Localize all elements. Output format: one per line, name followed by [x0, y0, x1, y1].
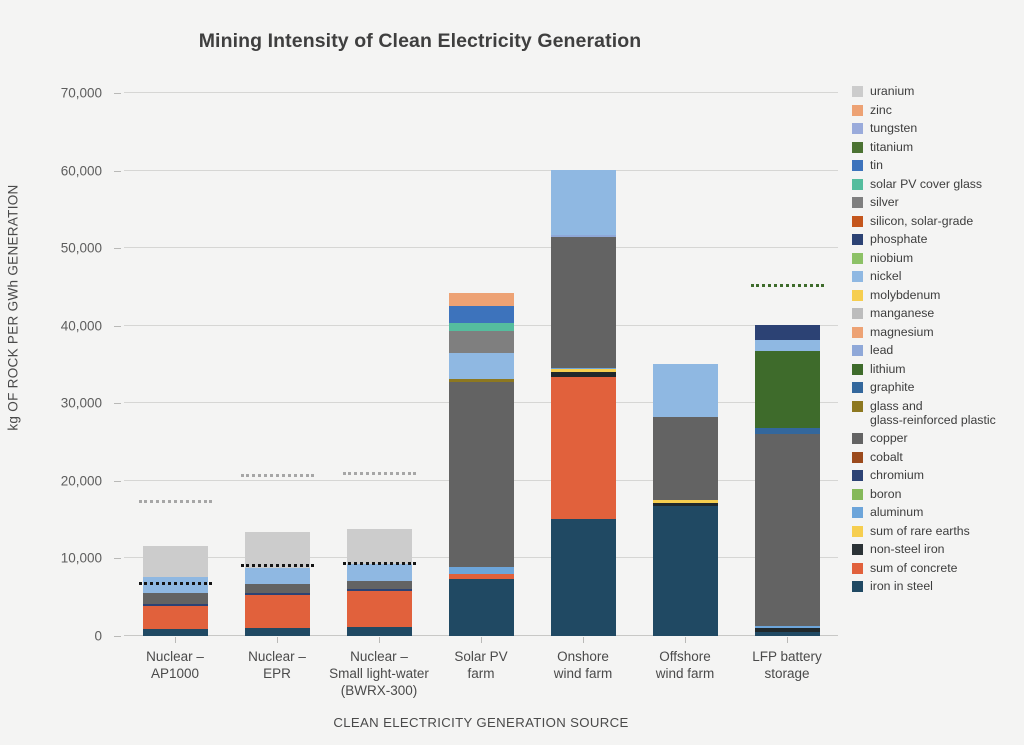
x-axis-tick-mark: [685, 637, 686, 643]
legend-item-label: glass and glass-reinforced plastic: [870, 399, 996, 428]
bar-segment[interactable]: [653, 506, 718, 636]
legend-swatch-icon: [852, 253, 863, 264]
y-axis-tick-mark: [114, 248, 121, 249]
legend-item[interactable]: aluminum: [852, 505, 1024, 519]
legend-item[interactable]: uranium: [852, 84, 1024, 98]
legend-item-label: sum of rare earths: [870, 524, 970, 538]
legend-item-label: sum of concrete: [870, 561, 957, 575]
legend-item-label: nickel: [870, 269, 901, 283]
legend-item[interactable]: non-steel iron: [852, 542, 1024, 556]
reference-line: [241, 474, 314, 477]
bar-segment[interactable]: [143, 593, 208, 605]
bar-segment[interactable]: [449, 579, 514, 636]
legend-swatch-icon: [852, 345, 863, 356]
reference-line: [139, 582, 212, 585]
reference-line: [343, 562, 416, 565]
legend-item[interactable]: silver: [852, 195, 1024, 209]
legend-item[interactable]: zinc: [852, 103, 1024, 117]
legend-item[interactable]: sum of concrete: [852, 561, 1024, 575]
legend-item[interactable]: phosphate: [852, 232, 1024, 246]
legend-swatch-icon: [852, 271, 863, 282]
y-axis-tick-label: 40,000: [61, 318, 102, 333]
x-axis-tick-label: Nuclear – EPR: [226, 648, 328, 682]
bar-segment[interactable]: [755, 325, 820, 340]
gridline: [124, 247, 838, 248]
x-axis-title: CLEAN ELECTRICITY GENERATION SOURCE: [124, 715, 838, 730]
bar-segment[interactable]: [245, 568, 310, 585]
legend-item[interactable]: molybdenum: [852, 288, 1024, 302]
bar-stack[interactable]: [449, 293, 514, 636]
y-axis-tick-label: 50,000: [61, 241, 102, 256]
legend-item-label: manganese: [870, 306, 934, 320]
bar-segment[interactable]: [245, 584, 310, 593]
bar-segment[interactable]: [347, 627, 412, 636]
bar-segment[interactable]: [245, 628, 310, 636]
legend-item-label: graphite: [870, 380, 914, 394]
legend-item[interactable]: solar PV cover glass: [852, 177, 1024, 191]
y-axis-tick-mark: [114, 481, 121, 482]
legend-item-label: solar PV cover glass: [870, 177, 982, 191]
legend-item[interactable]: tin: [852, 158, 1024, 172]
x-axis-tick-mark: [379, 637, 380, 643]
bar-segment[interactable]: [449, 323, 514, 332]
bar-segment[interactable]: [653, 417, 718, 500]
legend-item-label: non-steel iron: [870, 542, 945, 556]
bar-segment[interactable]: [551, 237, 616, 368]
bar-segment[interactable]: [347, 581, 412, 589]
bar-segment[interactable]: [755, 351, 820, 428]
x-axis-tick-mark: [277, 637, 278, 643]
x-axis-tick-label: Onshore wind farm: [532, 648, 634, 682]
reference-line: [241, 564, 314, 567]
x-axis-tick-mark: [175, 637, 176, 643]
legend-swatch-icon: [852, 470, 863, 481]
y-axis-tick-label: 30,000: [61, 396, 102, 411]
y-axis-tick-label: 60,000: [61, 163, 102, 178]
legend-swatch-icon: [852, 382, 863, 393]
legend-item-label: iron in steel: [870, 579, 933, 593]
y-axis-tick-mark: [114, 403, 121, 404]
legend-item-label: aluminum: [870, 505, 923, 519]
legend-item[interactable]: graphite: [852, 380, 1024, 394]
bar-segment[interactable]: [347, 591, 412, 627]
bar-stack[interactable]: [347, 529, 412, 636]
bar-segment[interactable]: [653, 364, 718, 417]
y-axis-tick-label: 70,000: [61, 86, 102, 101]
bar-segment[interactable]: [449, 293, 514, 306]
legend-swatch-icon: [852, 526, 863, 537]
bar-segment[interactable]: [755, 434, 820, 626]
gridline: [124, 170, 838, 171]
bar-segment[interactable]: [755, 340, 820, 351]
legend-item-label: boron: [870, 487, 901, 501]
y-axis-tick-label: 0: [94, 629, 102, 644]
bar-segment[interactable]: [551, 170, 616, 235]
legend-swatch-icon: [852, 123, 863, 134]
legend-item-label: phosphate: [870, 232, 927, 246]
plot-area: [124, 93, 838, 636]
bar-segment[interactable]: [347, 564, 412, 581]
legend-swatch-icon: [852, 327, 863, 338]
reference-line: [139, 500, 212, 503]
x-axis-tick-mark: [481, 637, 482, 643]
legend-item[interactable]: boron: [852, 487, 1024, 501]
bar-segment[interactable]: [449, 353, 514, 379]
legend-swatch-icon: [852, 142, 863, 153]
legend-swatch-icon: [852, 216, 863, 227]
bar-stack[interactable]: [755, 325, 820, 636]
bar-segment[interactable]: [755, 632, 820, 636]
y-axis-tick-mark: [114, 558, 121, 559]
bar-segment[interactable]: [143, 577, 208, 593]
legend-item-label: molybdenum: [870, 288, 940, 302]
legend-swatch-icon: [852, 179, 863, 190]
legend-item[interactable]: manganese: [852, 306, 1024, 320]
bar-segment[interactable]: [551, 519, 616, 636]
bar-stack[interactable]: [653, 364, 718, 636]
bar-segment[interactable]: [449, 567, 514, 574]
legend-swatch-icon: [852, 197, 863, 208]
bar-stack[interactable]: [551, 170, 616, 636]
legend-item[interactable]: copper: [852, 431, 1024, 445]
legend-swatch-icon: [852, 433, 863, 444]
legend-item[interactable]: silicon, solar-grade: [852, 214, 1024, 228]
y-axis-tick-mark: [114, 93, 121, 94]
y-axis-tick-mark: [114, 326, 121, 327]
legend-item-label: lead: [870, 343, 893, 357]
legend-item-label: silver: [870, 195, 899, 209]
bar-segment[interactable]: [143, 546, 208, 577]
legend-item-label: niobium: [870, 251, 913, 265]
legend-item-label: tin: [870, 158, 883, 172]
legend-item[interactable]: titanium: [852, 140, 1024, 154]
legend-swatch-icon: [852, 308, 863, 319]
legend-item-label: titanium: [870, 140, 913, 154]
y-axis-tick-label: 10,000: [61, 551, 102, 566]
bar-segment[interactable]: [347, 529, 412, 564]
legend-item-label: cobalt: [870, 450, 903, 464]
legend-swatch-icon: [852, 489, 863, 500]
legend-swatch-icon: [852, 563, 863, 574]
y-axis-tick-mark: [114, 636, 121, 637]
legend-item[interactable]: chromium: [852, 468, 1024, 482]
legend-swatch-icon: [852, 544, 863, 555]
gridline: [124, 92, 838, 93]
legend-swatch-icon: [852, 160, 863, 171]
legend-item-label: zinc: [870, 103, 892, 117]
legend-item[interactable]: nickel: [852, 269, 1024, 283]
legend-swatch-icon: [852, 105, 863, 116]
legend-item-label: copper: [870, 431, 908, 445]
bar-stack[interactable]: [143, 546, 208, 636]
legend: uraniumzinctungstentitaniumtinsolar PV c…: [852, 84, 1024, 598]
y-axis-title: kg OF ROCK PER GWh GENERATION: [6, 88, 21, 528]
reference-line: [343, 472, 416, 475]
chart-root: Mining Intensity of Clean Electricity Ge…: [0, 0, 1024, 745]
legend-swatch-icon: [852, 581, 863, 592]
x-axis-tick-label: LFP battery storage: [736, 648, 838, 682]
legend-item[interactable]: niobium: [852, 251, 1024, 265]
legend-item[interactable]: tungsten: [852, 121, 1024, 135]
x-axis-tick-mark: [787, 637, 788, 643]
legend-swatch-icon: [852, 452, 863, 463]
y-axis-tick-mark: [114, 171, 121, 172]
legend-item-label: chromium: [870, 468, 924, 482]
bar-segment[interactable]: [551, 377, 616, 519]
bar-segment[interactable]: [449, 331, 514, 353]
legend-swatch-icon: [852, 401, 863, 412]
legend-item[interactable]: cobalt: [852, 450, 1024, 464]
legend-swatch-icon: [852, 290, 863, 301]
bar-segment[interactable]: [143, 629, 208, 636]
legend-item-label: magnesium: [870, 325, 934, 339]
x-axis-tick-mark: [583, 637, 584, 643]
bar-segment[interactable]: [449, 306, 514, 323]
bar-segment[interactable]: [143, 606, 208, 629]
legend-swatch-icon: [852, 364, 863, 375]
x-axis-tick-label: Nuclear – AP1000: [124, 648, 226, 682]
bar-stack[interactable]: [245, 532, 310, 636]
x-axis-tick-label: Solar PV farm: [430, 648, 532, 682]
legend-item[interactable]: glass and glass-reinforced plastic: [852, 399, 1024, 428]
y-axis-tick-label: 20,000: [61, 473, 102, 488]
x-axis-tick-label: Offshore wind farm: [634, 648, 736, 682]
legend-item[interactable]: lithium: [852, 362, 1024, 376]
legend-item[interactable]: iron in steel: [852, 579, 1024, 593]
page-title: Mining Intensity of Clean Electricity Ge…: [0, 30, 840, 53]
legend-item[interactable]: magnesium: [852, 325, 1024, 339]
legend-item-label: lithium: [870, 362, 906, 376]
legend-item-label: uranium: [870, 84, 914, 98]
bar-segment[interactable]: [245, 532, 310, 568]
bar-segment[interactable]: [245, 595, 310, 629]
reference-line: [751, 284, 824, 287]
legend-item-label: silicon, solar-grade: [870, 214, 973, 228]
x-axis-tick-label: Nuclear – Small light-water (BWRX-300): [328, 648, 430, 699]
legend-item[interactable]: sum of rare earths: [852, 524, 1024, 538]
legend-item[interactable]: lead: [852, 343, 1024, 357]
legend-item-label: tungsten: [870, 121, 917, 135]
legend-swatch-icon: [852, 86, 863, 97]
bar-segment[interactable]: [449, 382, 514, 567]
legend-swatch-icon: [852, 234, 863, 245]
legend-swatch-icon: [852, 507, 863, 518]
